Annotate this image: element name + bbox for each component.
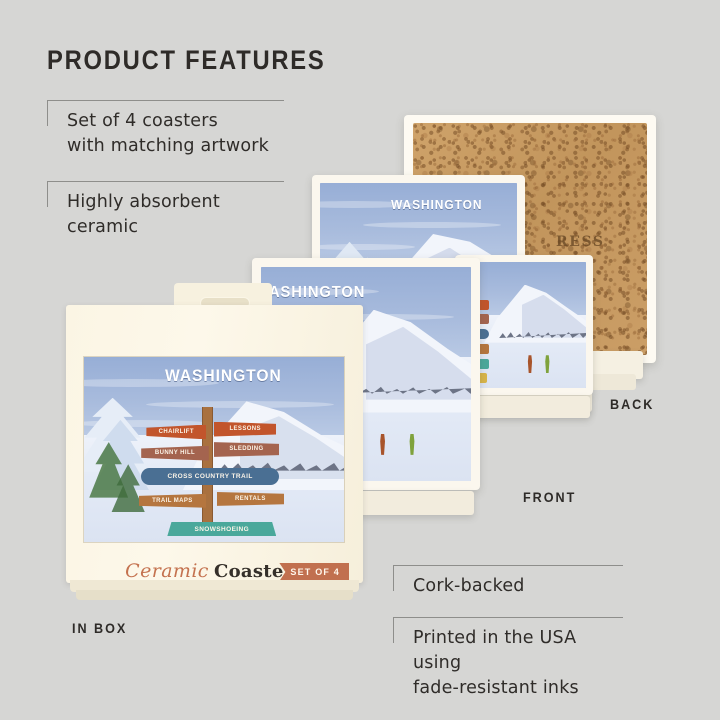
caption-back: BACK <box>610 396 654 412</box>
feature-rule <box>47 181 284 182</box>
feature-tick <box>47 100 48 126</box>
feature-text: Set of 4 coasters with matching artwork <box>67 109 269 159</box>
box-window-artwork: WASHINGTON CHAIRLIFT LESSONS BUNNY HILL … <box>84 357 344 542</box>
box-front-panel: WASHINGTON CHAIRLIFT LESSONS BUNNY HILL … <box>66 305 363 583</box>
caption-front: FRONT <box>523 489 576 505</box>
feature-rule <box>393 617 623 618</box>
feature-rule <box>393 565 623 566</box>
artwork-title-rear: WASHINGTON <box>391 197 482 212</box>
feature-text: Printed in the USA using fade-resistant … <box>413 626 623 701</box>
set-of-4-badge: SET OF 4 <box>279 563 349 581</box>
cork-press-text: RESS <box>556 234 605 250</box>
sign-sledding: SLEDDING <box>214 442 279 457</box>
box-artwork-title: WASHINGTON <box>165 366 282 386</box>
poster-artwork-mid <box>462 262 586 388</box>
feature-rule <box>47 100 284 101</box>
sign-snowshoeing: SNOWSHOEING <box>167 522 276 537</box>
sign-rentals: RENTALS <box>217 492 285 506</box>
sign-cross-country-trail: CROSS COUNTRY TRAIL <box>141 468 279 485</box>
brand-ceramic-text: Ceramic <box>125 560 209 582</box>
front-coaster-mid-base <box>468 396 590 418</box>
product-box: WASHINGTON CHAIRLIFT LESSONS BUNNY HILL … <box>66 283 363 608</box>
feature-text: Highly absorbent ceramic <box>67 190 220 240</box>
feature-tick <box>393 617 394 643</box>
feature-tick <box>47 181 48 207</box>
sign-lessons: LESSONS <box>214 422 276 437</box>
sign-trail-maps: TRAIL MAPS <box>139 494 207 508</box>
feature-text: Cork-backed <box>413 574 525 599</box>
box-bottom-lip-lower <box>76 590 353 600</box>
page-title: PRODUCT FEATURES <box>47 45 326 76</box>
feature-tick <box>393 565 394 591</box>
product-feature-sheet: RESS WASHINGTON <box>0 0 720 720</box>
caption-in-box: IN BOX <box>72 620 127 636</box>
